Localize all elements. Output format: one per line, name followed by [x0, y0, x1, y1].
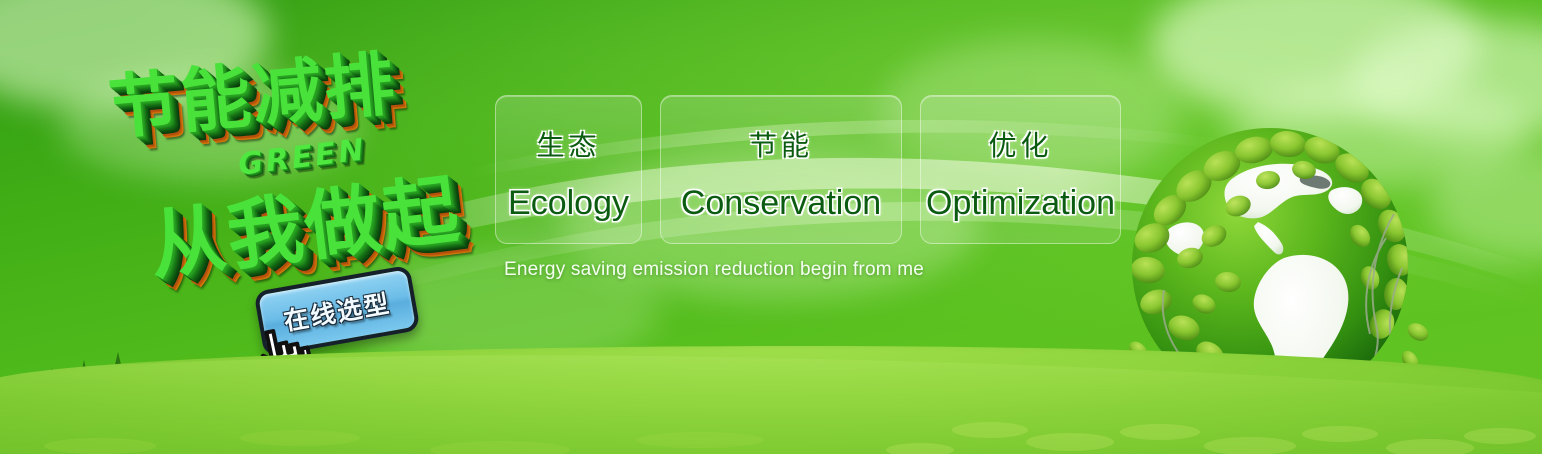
feature-card-en-label: Ecology — [508, 184, 629, 223]
feature-card-cn-label: 优化 — [988, 124, 1052, 164]
feature-card-en-label: Optimization — [926, 184, 1115, 223]
hero-headline: 节能减排 GREEN 从我做起 — [90, 36, 510, 286]
headline-line-2: 从我做起 — [142, 147, 465, 294]
grass-field — [0, 346, 1542, 454]
feature-card-list: 生态 Ecology 节能 Conservation 优化 Optimizati… — [495, 95, 1121, 244]
feature-card-conservation[interactable]: 节能 Conservation — [660, 95, 902, 244]
feature-card-optimization[interactable]: 优化 Optimization — [920, 95, 1121, 244]
banner-subtitle: Energy saving emission reduction begin f… — [504, 259, 924, 281]
feature-card-en-label: Conservation — [681, 184, 881, 223]
feature-card-ecology[interactable]: 生态 Ecology — [495, 95, 642, 244]
feature-card-cn-label: 节能 — [749, 124, 813, 164]
green-energy-banner: 节能减排 GREEN 从我做起 在线选型 生态 Ecology 节能 Conse… — [0, 0, 1542, 454]
feature-card-cn-label: 生态 — [536, 124, 600, 164]
